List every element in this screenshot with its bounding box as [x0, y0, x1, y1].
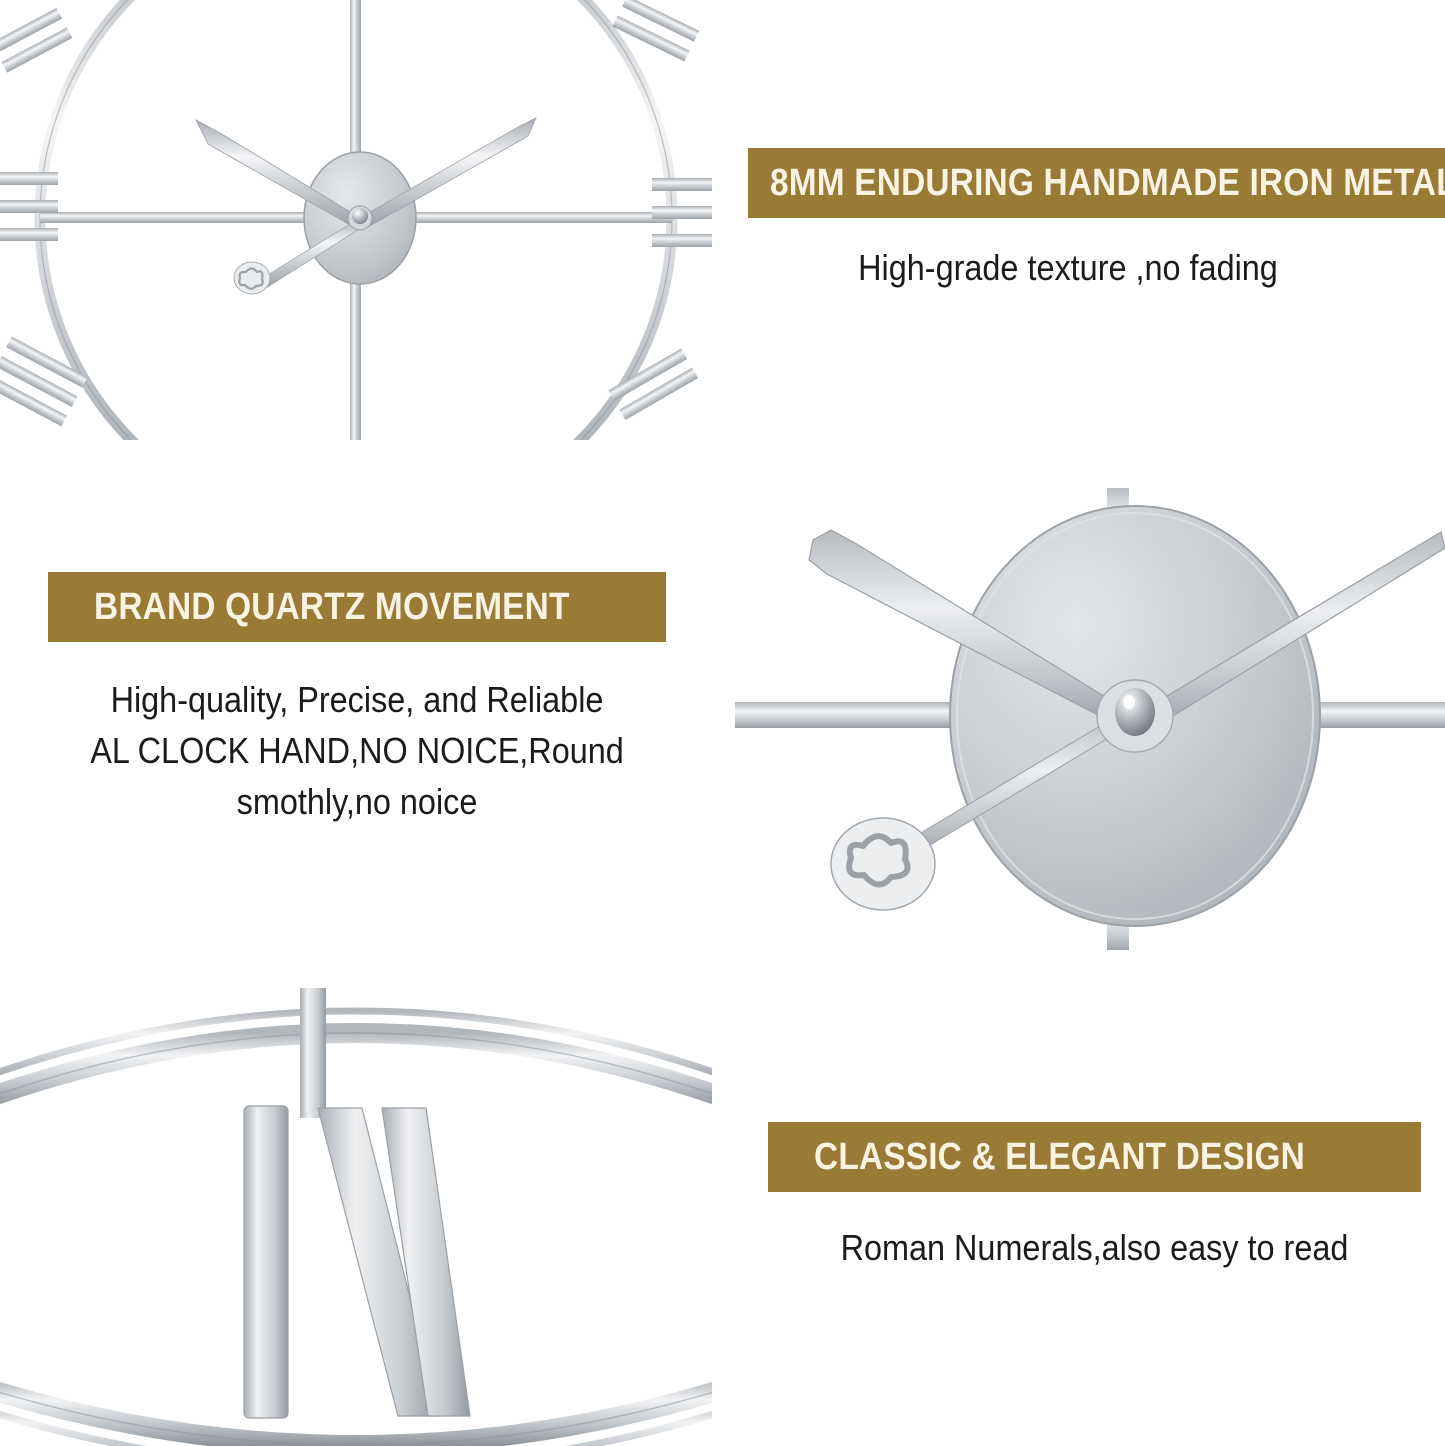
caption-line: AL CLOCK HAND,NO NOICE,Round: [79, 725, 635, 776]
caption-line: Roman Numerals,also easy to read: [801, 1222, 1389, 1273]
clock-face-illustration: [0, 0, 712, 440]
centre-pin: [1115, 688, 1155, 736]
numeral-spoke: [300, 988, 326, 1118]
roman-numeral-photo: [0, 988, 712, 1446]
feature-iron-banner-label: 8MM ENDURING HANDMADE IRON METAL: [770, 164, 1445, 202]
clock-face-photo: [0, 0, 712, 440]
feature-iron-caption: High-grade texture ,no fading: [748, 242, 1388, 293]
feature-classic-banner-label: CLASSIC & ELEGANT DESIGN: [814, 1138, 1305, 1176]
feature-quartz-movement: BRAND QUARTZ MOVEMENT High-quality, Prec…: [48, 572, 666, 827]
movement-hub-photo: [735, 488, 1445, 950]
roman-numeral-ix-left: [0, 172, 58, 241]
feature-classic-banner: CLASSIC & ELEGANT DESIGN: [768, 1122, 1421, 1192]
feature-quartz-caption: High-quality, Precise, and Reliable AL C…: [48, 674, 666, 827]
feature-classic-caption: Roman Numerals,also easy to read: [768, 1222, 1421, 1273]
roman-numeral-iii-right: [652, 178, 712, 247]
caption-line: smothly,no noice: [79, 776, 635, 827]
feature-iron-metal: 8MM ENDURING HANDMADE IRON METAL High-gr…: [748, 148, 1445, 293]
hub-illustration: [735, 488, 1445, 950]
numeral-stroke-i: [244, 1106, 288, 1418]
caption-line: High-grade texture ,no fading: [780, 242, 1356, 293]
feature-classic-design: CLASSIC & ELEGANT DESIGN Roman Numerals,…: [768, 1122, 1421, 1273]
centre-pin: [352, 208, 368, 224]
feature-iron-banner: 8MM ENDURING HANDMADE IRON METAL: [748, 148, 1445, 218]
feature-quartz-banner: BRAND QUARTZ MOVEMENT: [48, 572, 666, 642]
product-infographic: 8MM ENDURING HANDMADE IRON METAL High-gr…: [0, 0, 1445, 1446]
pin-highlight: [1123, 695, 1135, 709]
numeral-illustration: [0, 988, 712, 1446]
caption-line: High-quality, Precise, and Reliable: [79, 674, 635, 725]
feature-quartz-banner-label: BRAND QUARTZ MOVEMENT: [94, 588, 570, 626]
